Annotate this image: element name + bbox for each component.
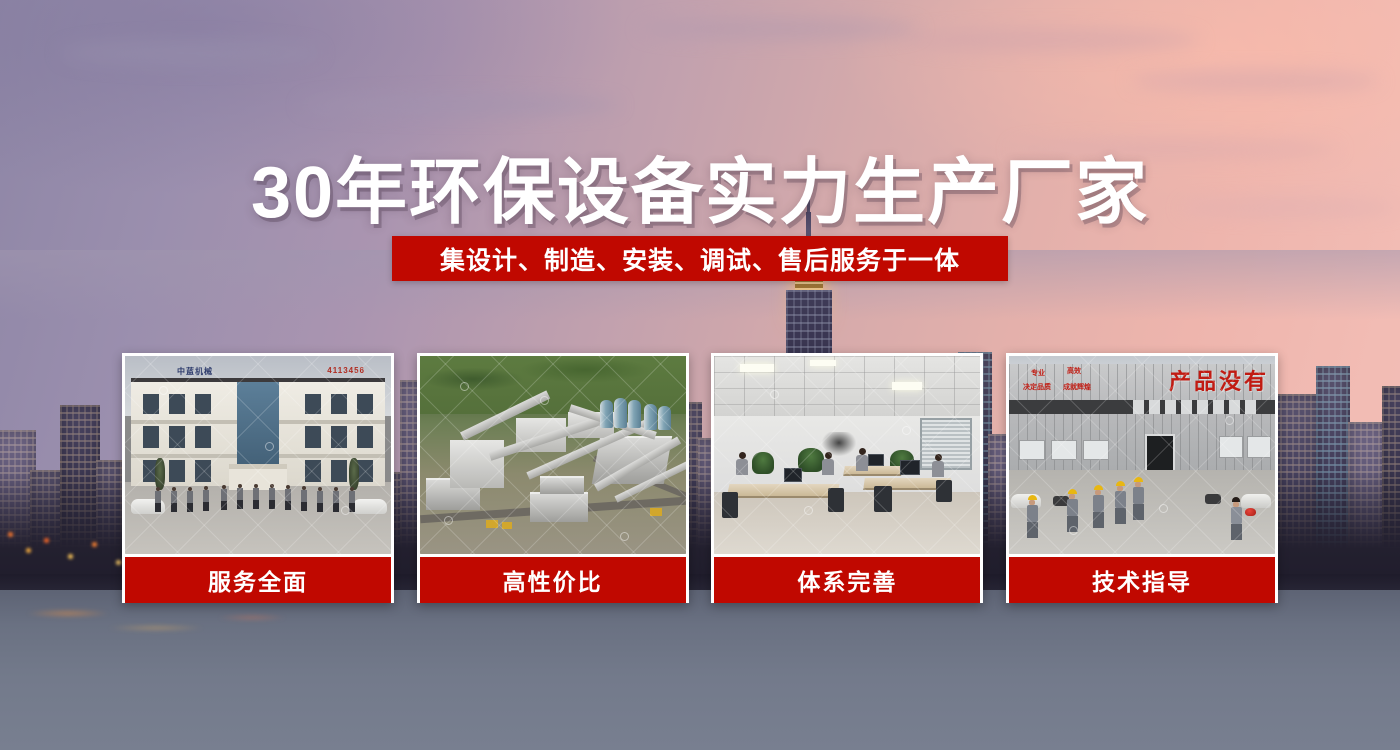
building-window: [357, 394, 373, 414]
staff-person: [221, 485, 227, 510]
cement-silo: [644, 404, 657, 430]
workshop-training-photo: 产品没有 专业 高效 决定品质 成就辉煌: [1009, 356, 1275, 554]
office-plant: [752, 452, 774, 474]
landscape-tree: [155, 458, 165, 490]
facade-strip-window: [1181, 400, 1192, 414]
staff-person: [269, 484, 275, 509]
feature-card[interactable]: 中蓝机械 4113456: [122, 353, 394, 603]
staff-person: [171, 487, 177, 512]
cloud-shape: [300, 95, 620, 115]
cloud-shape: [60, 40, 320, 66]
worker: [1027, 495, 1038, 538]
building-window: [331, 460, 347, 482]
cloud-shape: [640, 18, 920, 40]
ceiling-light: [740, 364, 774, 372]
office-staff: [822, 452, 834, 475]
office-chair: [722, 492, 738, 518]
office-staff: [932, 454, 944, 477]
facade-strip-window: [1133, 400, 1144, 414]
cloud-shape: [900, 28, 1200, 52]
computer-monitor: [784, 468, 802, 482]
factory-window: [1247, 436, 1271, 458]
worker: [1133, 477, 1144, 520]
bank-light: [44, 538, 49, 543]
building-window: [305, 460, 321, 482]
parked-car: [353, 499, 387, 514]
card-caption-text: 技术指导: [1092, 563, 1192, 597]
factory-window: [1083, 440, 1109, 460]
promo-banner: 30年环保设备实力生产厂家 集设计、制造、安装、调试、售后服务于一体: [0, 0, 1400, 750]
bank-light: [68, 554, 73, 559]
building-window: [143, 426, 159, 448]
staff-person: [301, 486, 307, 511]
worker: [1115, 481, 1126, 524]
card-caption: 体系完善: [714, 557, 980, 603]
cement-silo: [658, 406, 671, 430]
building-window: [357, 426, 373, 448]
worker: [1067, 489, 1078, 532]
cement-silo: [614, 398, 627, 428]
feature-card[interactable]: 产品没有 专业 高效 决定品质 成就辉煌: [1006, 353, 1278, 603]
subtitle-banner: 集设计、制造、安装、调试、售后服务于一体: [392, 236, 1008, 281]
plant-processing-block: [450, 440, 504, 488]
card-caption-text: 体系完善: [797, 563, 897, 597]
staff-person: [253, 484, 259, 509]
office-staff: [856, 448, 868, 471]
office-interior-photo: [714, 356, 980, 554]
staff-person: [155, 487, 161, 512]
office-staff: [736, 452, 748, 475]
staff-person: [285, 485, 291, 510]
facade-strip-window: [1245, 400, 1256, 414]
facade-strip-window: [1165, 400, 1176, 414]
computer-monitor: [868, 454, 884, 466]
card-caption-text: 高性价比: [503, 563, 603, 597]
office-chair: [874, 486, 892, 512]
building-window: [195, 394, 211, 414]
building-window: [331, 426, 347, 448]
facade-strip-window: [1213, 400, 1224, 414]
staff-person: [333, 487, 339, 512]
staff-person: [203, 486, 209, 511]
facade-strip-window: [1149, 400, 1160, 414]
building-window: [143, 394, 159, 414]
red-helmet-icon: [1245, 508, 1256, 516]
card-caption: 技术指导: [1009, 557, 1275, 603]
supervisor: [1231, 497, 1242, 540]
office-desk: [843, 466, 903, 476]
staff-person: [349, 487, 355, 512]
factory-window: [1051, 440, 1077, 460]
worker: [1093, 485, 1104, 528]
feature-card[interactable]: 高性价比: [417, 353, 689, 603]
ceiling-light: [892, 382, 922, 390]
card-caption: 服务全面: [125, 557, 391, 603]
bank-light: [26, 548, 31, 553]
feature-card[interactable]: 体系完善: [711, 353, 983, 603]
building-window: [169, 426, 185, 448]
parked-scooter: [1205, 494, 1221, 504]
wall-slogan-small: 高效: [1067, 366, 1081, 376]
building-window: [305, 394, 321, 414]
card-caption-text: 服务全面: [208, 563, 308, 597]
card-caption: 高性价比: [420, 557, 686, 603]
bank-light: [116, 560, 121, 565]
building-phone-text: 4113456: [327, 366, 365, 375]
office-desk: [727, 484, 840, 498]
office-chair: [828, 488, 844, 512]
facade-strip-window: [1197, 400, 1208, 414]
factory-window: [1219, 436, 1243, 458]
building-window: [195, 460, 211, 482]
staff-person: [187, 487, 193, 512]
staff-person: [317, 487, 323, 512]
building-window: [331, 394, 347, 414]
bank-light: [8, 532, 13, 537]
facade-strip-window: [1229, 400, 1240, 414]
building-window: [305, 426, 321, 448]
feature-card-row: 中蓝机械 4113456: [122, 353, 1278, 603]
wall-slogan-small: 专业: [1031, 368, 1045, 378]
aerial-plant-photo: [420, 356, 686, 554]
parked-car: [1241, 494, 1271, 508]
company-headquarters-photo: 中蓝机械 4113456: [125, 356, 391, 554]
window-blinds: [920, 418, 972, 470]
plant-warehouse: [540, 476, 584, 494]
excavator: [486, 520, 498, 528]
building-window: [357, 460, 373, 482]
computer-monitor: [900, 460, 920, 475]
building-window: [169, 460, 185, 482]
bank-light: [92, 542, 97, 547]
factory-window: [1019, 440, 1045, 460]
office-chair: [936, 480, 952, 502]
building-window: [169, 394, 185, 414]
wall-slogan-small: 决定品质: [1023, 382, 1051, 392]
ceiling-light: [810, 360, 836, 366]
staff-person: [237, 484, 243, 509]
cloud-shape: [1130, 70, 1380, 92]
building-window: [195, 426, 211, 448]
building-sign-text: 中蓝机械: [177, 366, 213, 377]
wall-slogan-small: 成就辉煌: [1063, 382, 1091, 392]
cement-silo: [600, 400, 613, 428]
landscape-tree: [349, 458, 359, 490]
wall-slogan-main: 产品没有: [1169, 364, 1269, 396]
cement-silo: [628, 400, 641, 428]
page-title: 30年环保设备实力生产厂家: [0, 133, 1400, 238]
excavator: [502, 522, 512, 529]
plant-warehouse: [530, 492, 588, 522]
subtitle-text: 集设计、制造、安装、调试、售后服务于一体: [440, 241, 960, 277]
excavator: [650, 508, 662, 516]
river-light-reflections: [20, 603, 420, 655]
